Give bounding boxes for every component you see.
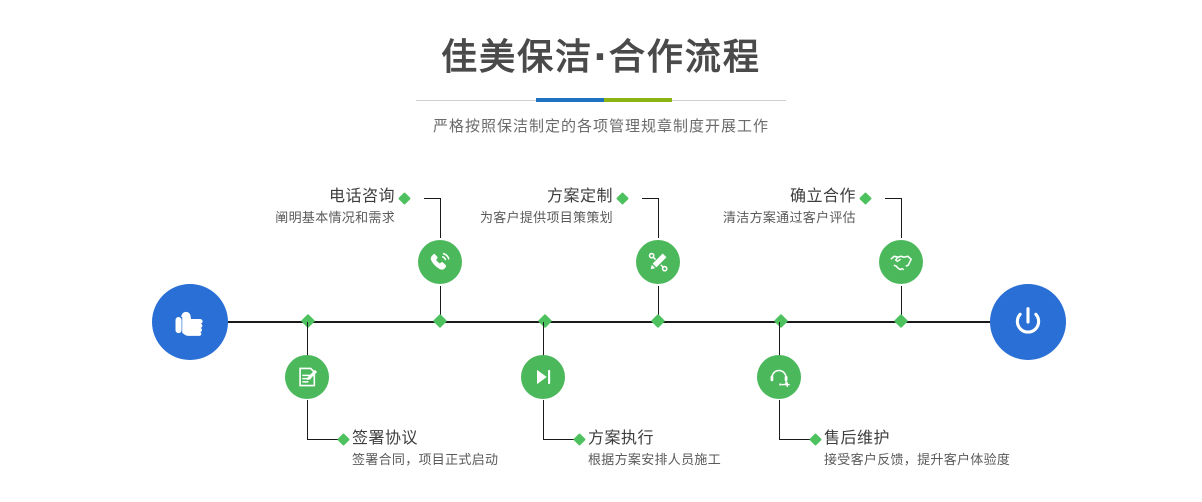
axis-marker-step-1 — [433, 314, 447, 328]
step-desc-4: 根据方案安排人员施工 — [588, 453, 818, 470]
connector-step-4 — [543, 400, 544, 440]
timeline-start-node[interactable] — [152, 284, 228, 360]
play-execute-icon — [530, 364, 556, 390]
connector-step-5 — [901, 198, 902, 238]
step-title-3: 方案定制 — [400, 186, 613, 206]
step-desc-2: 签署合同，项目正式启动 — [352, 453, 582, 470]
connector-step-4-upper — [543, 322, 544, 356]
phone-call-icon — [427, 249, 453, 275]
step-node-6[interactable] — [757, 355, 801, 399]
step-label-5: 确立合作 清洁方案通过客户评估 — [640, 186, 856, 228]
timeline-end-node[interactable] — [990, 284, 1066, 360]
step-desc-3: 为客户提供项目策策划 — [400, 211, 613, 228]
axis-marker-step-5 — [894, 314, 908, 328]
step-title-1: 电话咨询 — [180, 186, 395, 206]
step-title-6: 售后维护 — [824, 428, 1074, 448]
infographic-root: 佳美保洁·合作流程 严格按照保洁制定的各项管理规章制度开展工作 — [0, 0, 1202, 502]
step-label-3: 方案定制 为客户提供项目策策划 — [400, 186, 613, 228]
step-node-3[interactable] — [636, 240, 680, 284]
step-desc-6: 接受客户反馈，提升客户体验度 — [824, 453, 1074, 470]
connector-step-6 — [779, 400, 780, 440]
lead-diamond-step-5 — [859, 192, 872, 205]
pointing-hand-icon — [168, 300, 212, 344]
power-icon — [1006, 300, 1050, 344]
step-node-2[interactable] — [285, 355, 329, 399]
headset-support-icon — [766, 364, 792, 390]
step-desc-1: 阐明基本情况和需求 — [180, 211, 395, 228]
step-node-1[interactable] — [418, 240, 462, 284]
axis-marker-2 — [538, 314, 552, 328]
step-title-2: 签署协议 — [352, 428, 582, 448]
step-node-4[interactable] — [521, 355, 565, 399]
connector-step-6-upper — [779, 322, 780, 356]
axis-marker-3 — [774, 314, 788, 328]
lead-diamond-step-2 — [337, 433, 350, 446]
axis-marker-step-3 — [651, 314, 665, 328]
process-timeline: 电话咨询 阐明基本情况和需求 签署协议 签署合同，项目正式启动 — [0, 0, 1202, 502]
step-label-1: 电话咨询 阐明基本情况和需求 — [180, 186, 395, 228]
step-label-2: 签署协议 签署合同，项目正式启动 — [352, 428, 582, 470]
step-title-5: 确立合作 — [640, 186, 856, 206]
connector-step-2 — [307, 400, 308, 440]
lead-diamond-step-3 — [616, 192, 629, 205]
pencil-compass-icon — [645, 249, 671, 275]
step-node-5[interactable] — [879, 240, 923, 284]
step-title-4: 方案执行 — [588, 428, 818, 448]
step-label-6: 售后维护 接受客户反馈，提升客户体验度 — [824, 428, 1074, 470]
document-pen-icon — [294, 364, 320, 390]
connector-step-2-upper — [307, 322, 308, 356]
step-label-4: 方案执行 根据方案安排人员施工 — [588, 428, 818, 470]
lead-line-step-5 — [885, 198, 902, 199]
handshake-icon — [888, 249, 914, 275]
step-desc-5: 清洁方案通过客户评估 — [640, 211, 856, 228]
